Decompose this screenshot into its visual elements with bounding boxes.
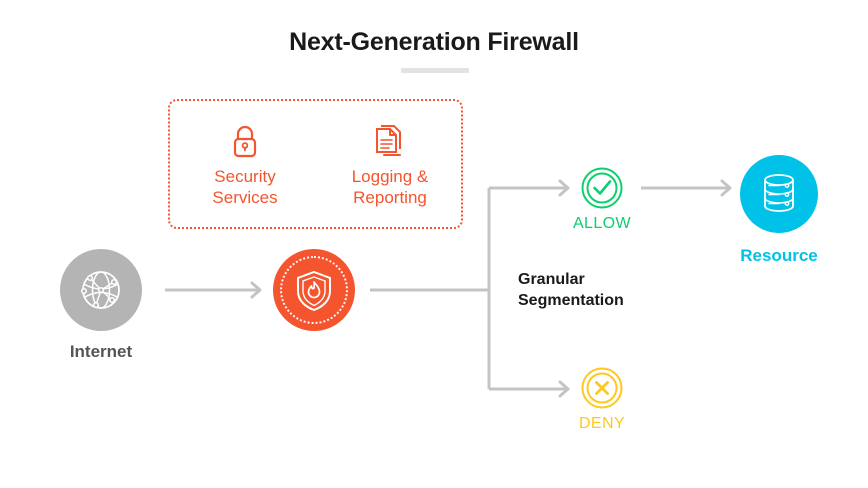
granular-line1: Granular bbox=[518, 271, 585, 288]
x-circle-icon bbox=[581, 367, 623, 409]
node-internet[interactable] bbox=[60, 249, 142, 331]
service-label-line2: Reporting bbox=[353, 188, 427, 207]
node-firewall[interactable] bbox=[273, 249, 355, 331]
title-divider bbox=[401, 68, 469, 73]
check-circle-icon bbox=[581, 167, 623, 209]
service-label-logging-reporting: Logging & Reporting bbox=[330, 166, 450, 208]
node-label-resource: Resource bbox=[699, 246, 859, 266]
shield-flame-icon bbox=[293, 267, 335, 313]
node-deny[interactable] bbox=[581, 367, 623, 409]
service-label-line2: Services bbox=[212, 188, 277, 207]
service-item-logging-reporting[interactable]: Logging & Reporting bbox=[330, 119, 450, 208]
node-label-deny: DENY bbox=[532, 415, 672, 433]
page-title: Next-Generation Firewall bbox=[0, 28, 868, 57]
security-services-panel: Security Services Logging & Reporting bbox=[168, 99, 463, 229]
node-resource[interactable] bbox=[740, 155, 818, 233]
service-label-security-services: Security Services bbox=[185, 166, 305, 208]
globe-network-icon bbox=[78, 267, 124, 313]
node-allow[interactable] bbox=[581, 167, 623, 209]
service-item-security-services[interactable]: Security Services bbox=[185, 119, 305, 208]
granular-segmentation-label: Granular Segmentation bbox=[518, 269, 718, 311]
database-stack-icon bbox=[757, 170, 801, 218]
diagram-canvas: Next-Generation Firewall Security Servic… bbox=[0, 0, 868, 488]
node-label-internet: Internet bbox=[21, 342, 181, 362]
service-label-line1: Logging & bbox=[352, 167, 429, 186]
service-label-line1: Security bbox=[214, 167, 275, 186]
connector-lines bbox=[0, 0, 868, 488]
lock-icon bbox=[185, 119, 305, 163]
node-label-allow: ALLOW bbox=[532, 215, 672, 233]
granular-line2: Segmentation bbox=[518, 292, 624, 309]
documents-icon bbox=[330, 119, 450, 163]
